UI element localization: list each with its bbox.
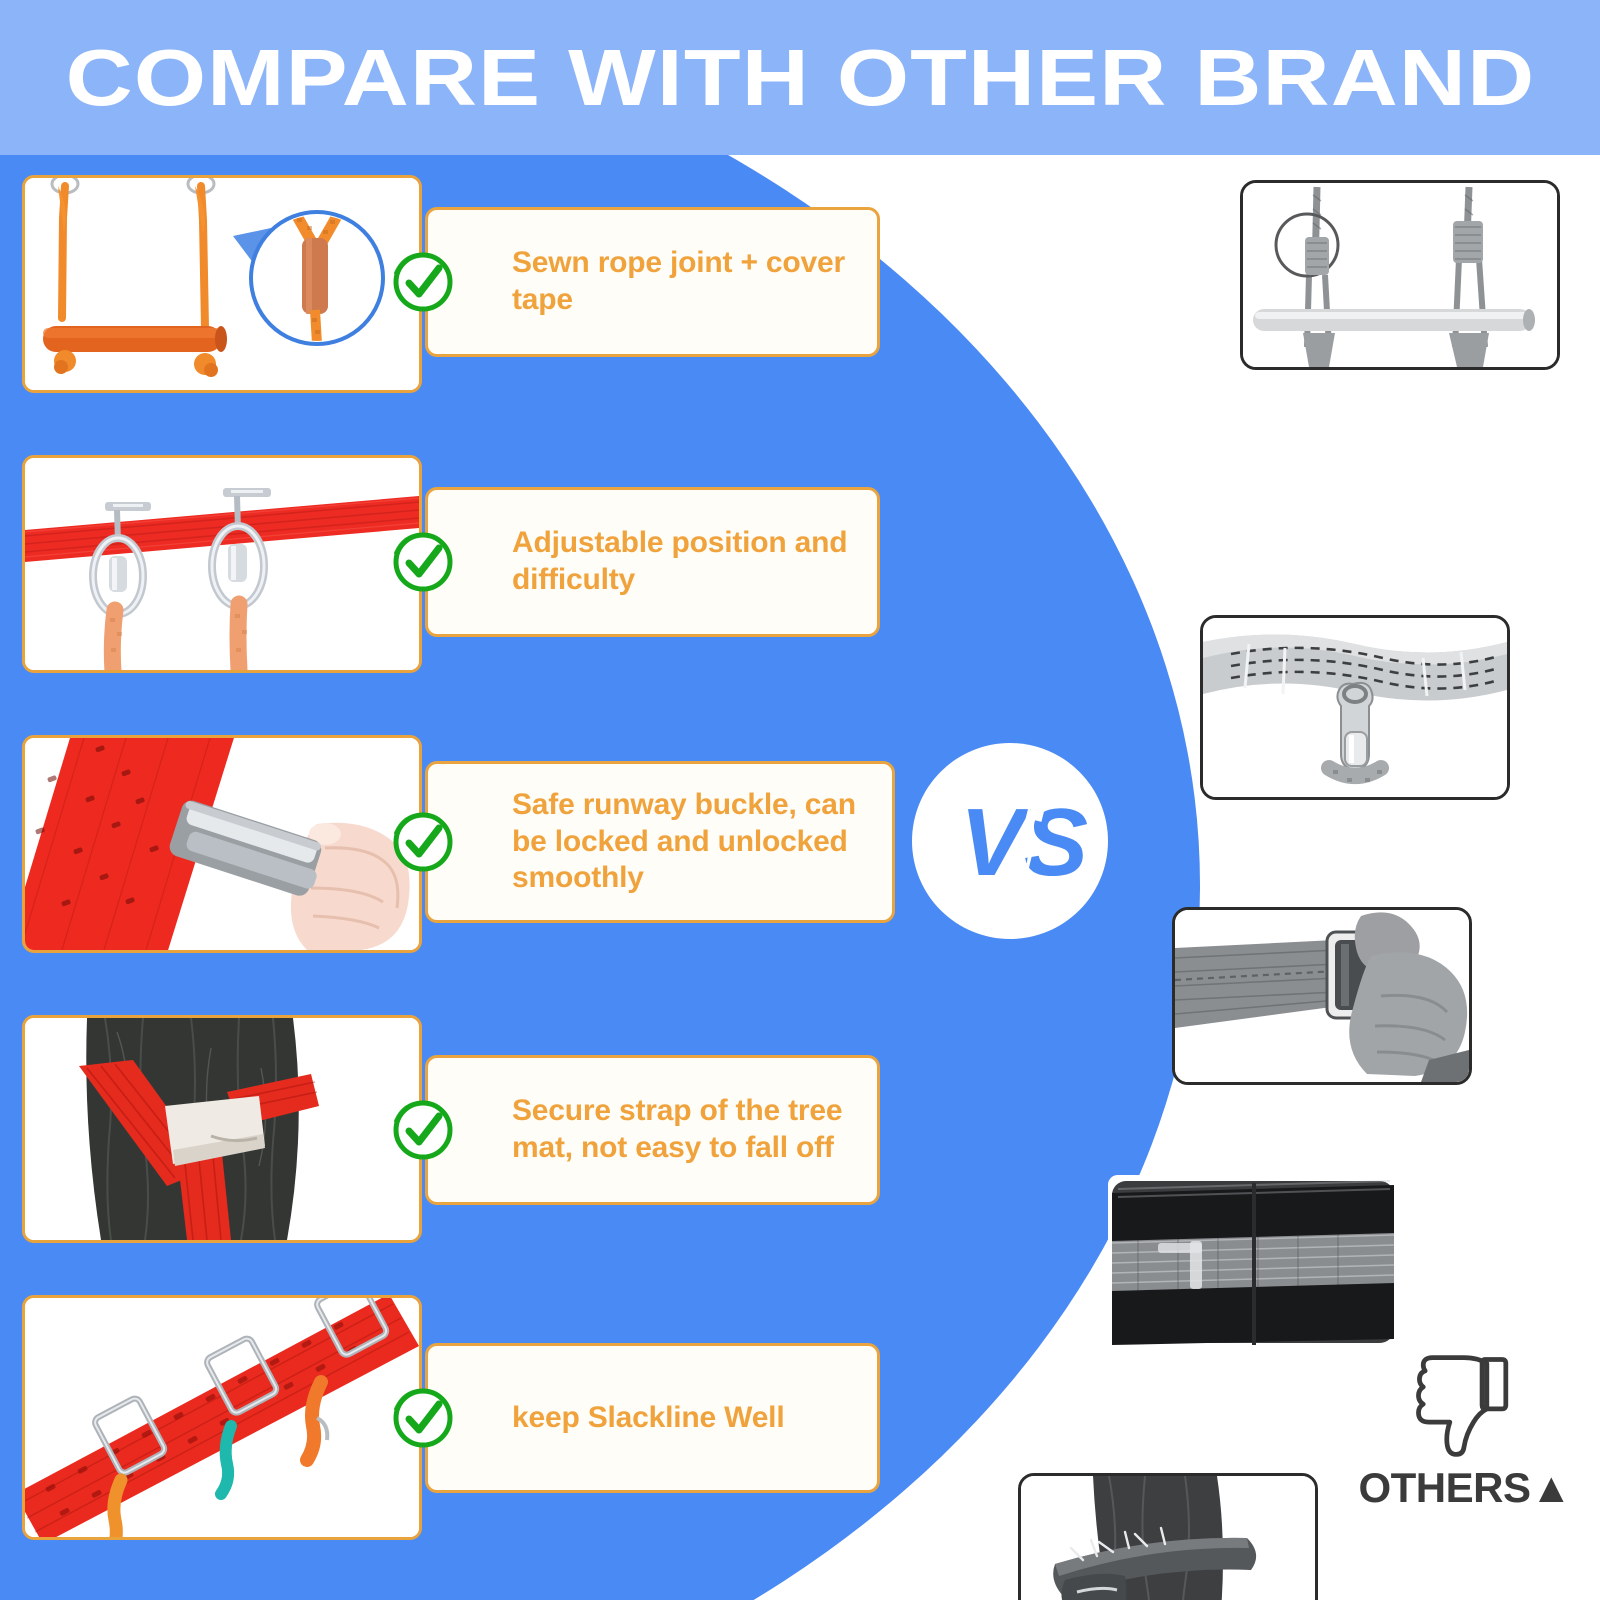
ours-marker: ▼ (958, 280, 1003, 332)
feature-label-3: Safe runway buckle, can be locked and un… (428, 787, 892, 897)
others-marker: ▲ (1530, 1464, 1571, 1511)
versus-badge: VS (912, 743, 1108, 939)
header-banner: COMPARE WITH OTHER BRAND (0, 0, 1600, 155)
gray-hand-pulling-webbing-buckle-photo (1175, 910, 1469, 1082)
feature-photo-2 (22, 455, 422, 673)
red-slackline-with-slide-buckles-photo (25, 1298, 419, 1537)
feature-text-card-2: Adjustable position and difficulty (425, 487, 880, 637)
comparison-infographic: COMPARE WITH OTHER BRAND (0, 0, 1600, 1600)
ours-text: OURS (1003, 280, 1132, 332)
our-features-list: Sewn rope joint + cover tape (0, 155, 960, 1600)
thumbs-down-icon (1409, 1350, 1521, 1462)
green-check-icon-5 (390, 1385, 456, 1451)
hand-holding-metal-runway-buckle-photo (25, 738, 419, 950)
feature-photo-3 (22, 735, 422, 953)
orange-trapeze-bar-sewn-joint-photo (25, 178, 419, 390)
competitor-photo-5 (1018, 1473, 1318, 1600)
frayed-damaged-tree-strap-photo (1021, 1476, 1315, 1600)
ours-block: ▼OURS (930, 165, 1160, 333)
ours-label: ▼OURS (930, 279, 1160, 333)
thumbs-up-icon (986, 165, 1104, 283)
competitor-photo-3 (1172, 907, 1472, 1085)
feature-label-1: Sewn rope joint + cover tape (428, 245, 877, 318)
feature-photo-5 (22, 1295, 422, 1540)
feature-text-card-5: keep Slackline Well (425, 1343, 880, 1493)
vs-icon: VS (912, 743, 1108, 939)
gray-trapeze-bar-rope-clamp-photo (1243, 183, 1557, 367)
feature-row-3: Safe runway buckle, can be locked and un… (0, 735, 920, 965)
red-strap-with-locking-carabiners-photo (25, 458, 419, 670)
competitor-photo-4 (1108, 1175, 1398, 1350)
feature-photo-4 (22, 1015, 422, 1243)
others-block: OTHERS▲ (1340, 1350, 1590, 1512)
gray-stitched-webbing-fixed-carabiner-photo (1203, 618, 1507, 797)
others-text: OTHERS (1358, 1464, 1530, 1511)
black-tree-wrap-strap-photo (1108, 1175, 1398, 1350)
feature-row-2: Adjustable position and difficulty (0, 455, 920, 685)
feature-text-card-4: Secure strap of the tree mat, not easy t… (425, 1055, 880, 1205)
competitor-photo-2 (1200, 615, 1510, 800)
green-check-icon-2 (390, 529, 456, 595)
green-check-icon-4 (390, 1097, 456, 1163)
red-strap-on-tree-with-white-tree-mat-photo (25, 1018, 419, 1240)
feature-row-5: keep Slackline Well (0, 1295, 920, 1545)
page-title: COMPARE WITH OTHER BRAND (65, 38, 1535, 118)
feature-text-card-3: Safe runway buckle, can be locked and un… (425, 761, 895, 923)
others-label: OTHERS▲ (1340, 1464, 1590, 1512)
feature-text-card-1: Sewn rope joint + cover tape (425, 207, 880, 357)
feature-photo-1 (22, 175, 422, 393)
green-check-icon-3 (390, 809, 456, 875)
feature-row-1: Sewn rope joint + cover tape (0, 175, 920, 405)
feature-label-4: Secure strap of the tree mat, not easy t… (428, 1093, 877, 1166)
green-check-icon-1 (390, 249, 456, 315)
comparison-body: Sewn rope joint + cover tape (0, 155, 1600, 1600)
feature-label-5: keep Slackline Well (428, 1400, 802, 1437)
feature-row-4: Secure strap of the tree mat, not easy t… (0, 1015, 920, 1255)
feature-label-2: Adjustable position and difficulty (428, 525, 877, 598)
competitor-photo-1 (1240, 180, 1560, 370)
